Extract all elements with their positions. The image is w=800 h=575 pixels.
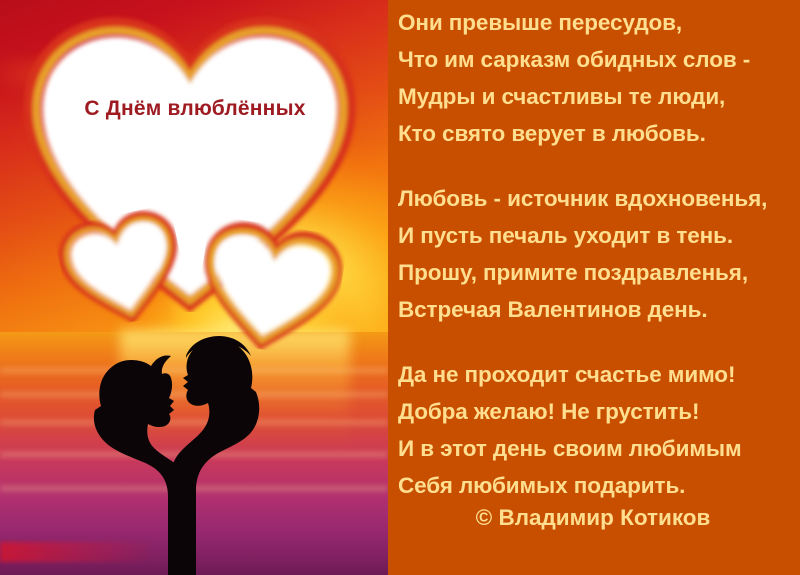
poem-panel: Они превыше пересудов, Что им сарказм об… [388, 0, 800, 575]
watermark [0, 542, 150, 562]
poem-line: Прошу, примите поздравленья, [398, 254, 798, 291]
poem-line: Себя любимых подарить. [398, 467, 798, 504]
stanza-gap [398, 152, 798, 180]
stanza-gap [398, 328, 798, 356]
poem-line: Любовь - источник вдохновенья, [398, 180, 798, 217]
photo-panel: С Днём влюблённых [0, 0, 388, 575]
poem-line: Да не проходит счастье мимо! [398, 356, 798, 393]
heart-banner-text: С Днём влюблённых [40, 97, 350, 121]
poem-line: Добра желаю! Не грустить! [398, 393, 798, 430]
poem-line: Встречая Валентинов день. [398, 291, 798, 328]
poem-text-block: Они превыше пересудов, Что им сарказм об… [398, 4, 798, 504]
kissing-couple-silhouette [0, 300, 388, 575]
valentine-card: С Днём влюблённых Они превыше пересудов,… [0, 0, 800, 575]
poem-line: Они превыше пересудов, [398, 4, 798, 41]
poem-line: Кто свято верует в любовь. [398, 115, 798, 152]
author-signature: © Владимир Котиков [398, 505, 788, 531]
poem-line: И в этот день своим любимым [398, 430, 798, 467]
poem-line: И пусть печаль уходит в тень. [398, 217, 798, 254]
poem-line: Что им сарказм обидных слов - [398, 41, 798, 78]
poem-line: Мудры и счастливы те люди, [398, 78, 798, 115]
